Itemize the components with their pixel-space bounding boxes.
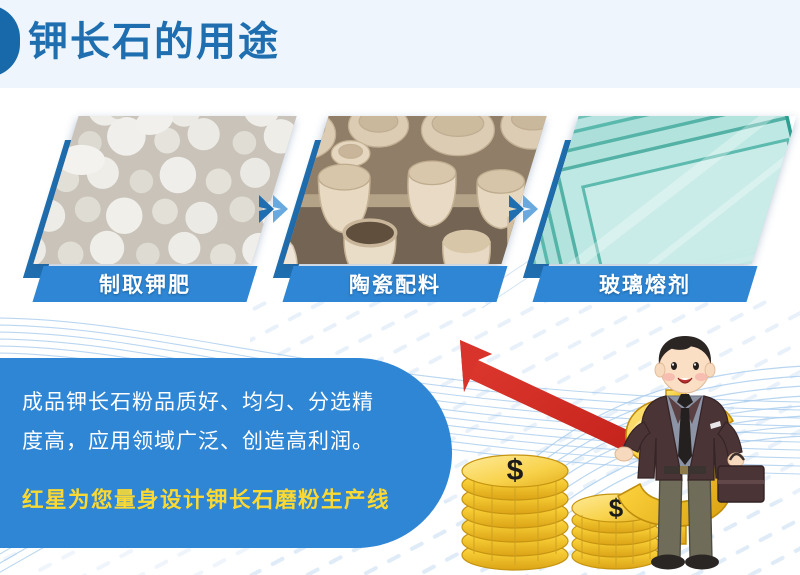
summary-line-2: 度高，应用领域广泛、创造高利润。 <box>22 425 374 455</box>
card-label-potash-fertilizer: 制取钾肥 <box>38 266 252 302</box>
card-label-glass-flux: 玻璃熔剂 <box>538 266 752 302</box>
glass-panes-photo <box>533 116 796 264</box>
svg-text:$: $ <box>507 454 524 487</box>
profit-illustration: $ $ <box>440 330 800 575</box>
summary-highlight: 红星为您量身设计钾长石磨粉生产线 <box>22 483 390 514</box>
use-card-potash-fertilizer[interactable]: 制取钾肥 <box>38 108 288 308</box>
card-label-ceramic-ingredient: 陶瓷配料 <box>288 266 502 302</box>
page-title: 钾长石的用途 <box>28 14 280 70</box>
gold-coin-stack-icon-large: $ <box>462 454 568 570</box>
potash-fertilizer-granules-photo <box>33 116 296 264</box>
summary-line-1: 成品钾长石粉品质好、均匀、分选精 <box>22 386 374 416</box>
use-card-ceramic-ingredient[interactable]: 陶瓷配料 <box>288 108 538 308</box>
infographic-canvas: 钾长石的用途 <box>0 0 800 575</box>
use-card-glass-flux[interactable]: 玻璃熔剂 <box>538 108 788 308</box>
ceramic-pottery-photo <box>283 116 546 264</box>
